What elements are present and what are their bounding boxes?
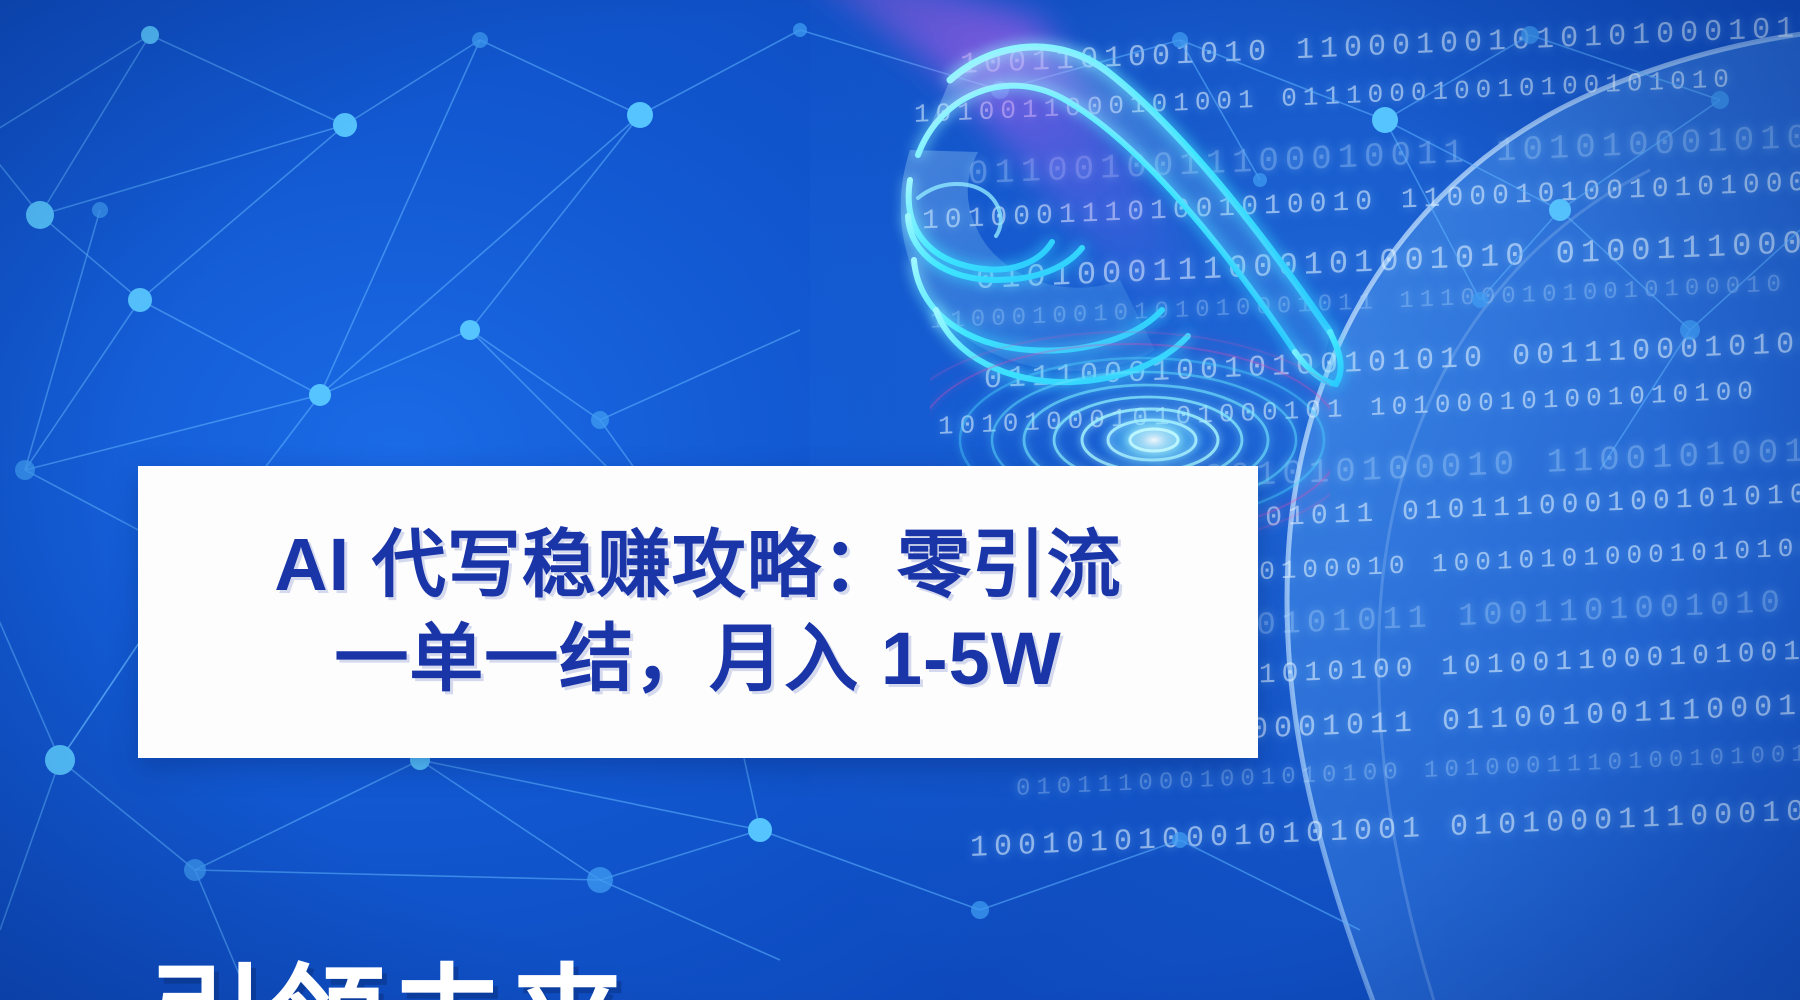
subtitle-line-1: AI 代写稳赚攻略：零引流	[274, 520, 1122, 610]
ai-promo-poster: 1001101001010 11000100101010100010111010…	[0, 0, 1800, 1000]
subtitle-card: AI 代写稳赚攻略：零引流 一单一结，月入 1-5W	[138, 466, 1258, 758]
subtitle-line-2: 一单一结，月入 1-5W	[334, 614, 1061, 704]
headline-line-2: 引领未来	[148, 942, 628, 1000]
